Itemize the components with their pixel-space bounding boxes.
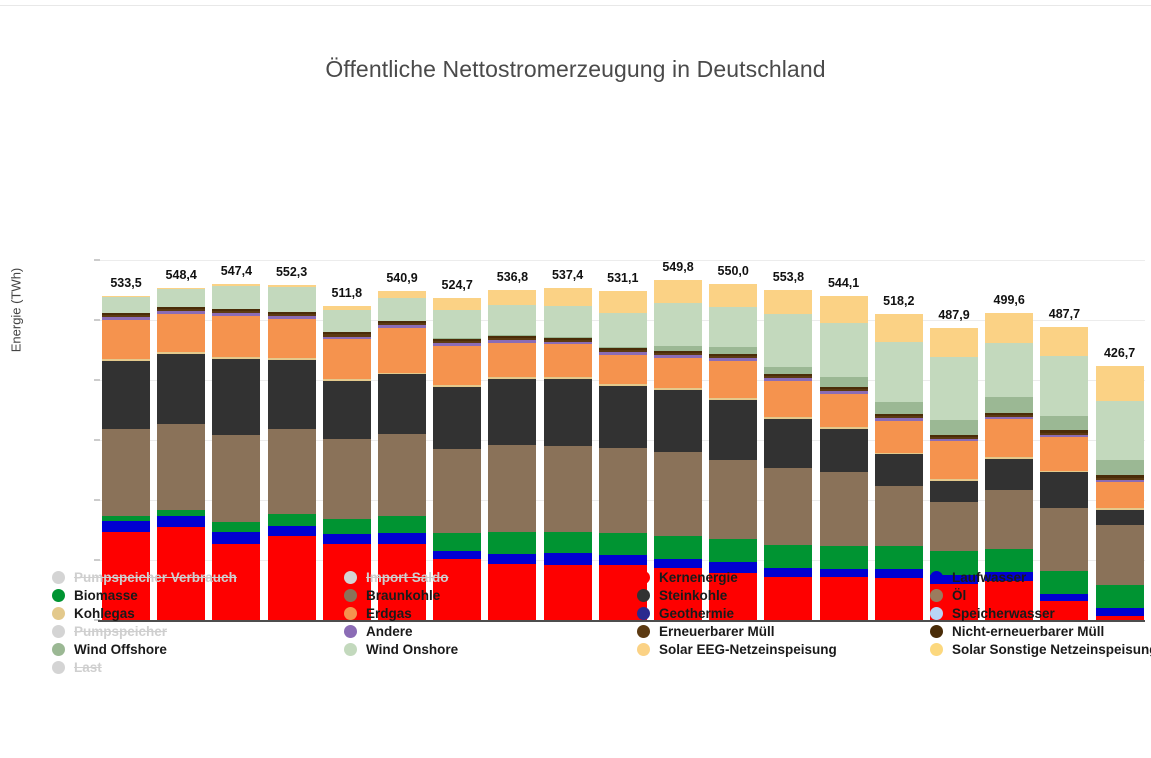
bar-segment[interactable] <box>268 314 316 316</box>
bar-segment[interactable] <box>544 337 592 339</box>
legend-color-swatch-icon <box>344 643 357 656</box>
bar-segment[interactable] <box>433 385 481 387</box>
bar-segment[interactable] <box>654 559 702 568</box>
bar-segment[interactable] <box>488 377 536 379</box>
bar-total-label: 487,9 <box>938 308 969 322</box>
stacked-bar[interactable] <box>875 260 923 620</box>
bar-segment[interactable] <box>212 311 260 313</box>
bar-segment[interactable] <box>709 356 757 358</box>
legend-item[interactable]: Braunkohle <box>344 586 458 604</box>
bar-segment[interactable] <box>544 532 592 554</box>
bar-segment[interactable] <box>378 298 426 321</box>
bar-segment[interactable] <box>157 354 205 425</box>
bar-segment[interactable] <box>488 532 536 554</box>
bar-segment[interactable] <box>764 290 812 314</box>
bar-segment[interactable] <box>212 522 260 533</box>
y-axis-tick-mark <box>94 500 100 501</box>
bar-segment[interactable] <box>709 358 757 361</box>
bar-segment[interactable] <box>764 367 812 374</box>
bar-segment[interactable] <box>268 360 316 428</box>
bar-group[interactable]: 487,9 <box>930 260 978 620</box>
bar-total-label: 536,8 <box>497 270 528 284</box>
legend-item[interactable]: Wind Offshore <box>52 640 237 658</box>
legend-item-label: Pumpspeicher <box>74 624 167 639</box>
legend-color-swatch-icon <box>344 589 357 602</box>
bar-segment[interactable] <box>709 354 757 356</box>
stacked-bar[interactable] <box>820 260 868 620</box>
bar-segment[interactable] <box>875 546 923 570</box>
bar-total-label: 537,4 <box>552 268 583 282</box>
bar-segment[interactable] <box>323 332 371 334</box>
bar-group[interactable]: 549,8 <box>654 260 702 620</box>
y-axis-tick-mark <box>94 320 100 321</box>
bar-segment[interactable] <box>268 287 316 311</box>
legend-color-swatch-icon <box>52 643 65 656</box>
bar-segment[interactable] <box>212 435 260 522</box>
bar-group[interactable]: 552,3 <box>268 260 316 620</box>
bar-segment[interactable] <box>985 490 1033 549</box>
bar-segment[interactable] <box>102 516 150 521</box>
bar-segment[interactable] <box>102 297 150 313</box>
bar-segment[interactable] <box>709 284 757 307</box>
bar-segment[interactable] <box>820 427 868 429</box>
bar-total-label: 548,4 <box>166 268 197 282</box>
bar-segment[interactable] <box>930 420 978 435</box>
bar-segment[interactable] <box>654 351 702 353</box>
legend-item-label: Last <box>74 660 102 675</box>
bar-segment[interactable] <box>654 303 702 346</box>
bar-segment[interactable] <box>599 533 647 556</box>
bar-segment[interactable] <box>488 554 536 564</box>
bar-segment[interactable] <box>157 307 205 309</box>
bar-segment[interactable] <box>654 280 702 303</box>
bar-segment[interactable] <box>820 296 868 323</box>
bar-segment[interactable] <box>544 553 592 564</box>
bar-segment[interactable] <box>764 314 812 367</box>
bar-segment[interactable] <box>102 521 150 532</box>
bar-segment[interactable] <box>212 316 260 357</box>
stacked-bar[interactable] <box>212 260 260 620</box>
bar-segment[interactable] <box>268 514 316 526</box>
bar-segment[interactable] <box>433 343 481 346</box>
bar-group[interactable]: 537,4 <box>544 260 592 620</box>
bar-segment[interactable] <box>875 416 923 418</box>
bar-segment[interactable] <box>102 317 150 320</box>
bar-segment[interactable] <box>102 315 150 317</box>
bar-segment[interactable] <box>599 555 647 565</box>
bar-group[interactable]: 550,0 <box>709 260 757 620</box>
bar-total-label: 550,0 <box>718 264 749 278</box>
bar-segment[interactable] <box>488 445 536 532</box>
stacked-bar[interactable] <box>599 260 647 620</box>
legend-color-swatch-icon <box>637 571 650 584</box>
bar-segment[interactable] <box>544 446 592 532</box>
bar-segment[interactable] <box>764 419 812 468</box>
bar-segment[interactable] <box>323 334 371 336</box>
bar-segment[interactable] <box>654 355 702 358</box>
bar-segment[interactable] <box>930 328 978 357</box>
bar-segment[interactable] <box>875 453 923 455</box>
bar-segment[interactable] <box>323 379 371 381</box>
bar-segment[interactable] <box>1096 401 1144 460</box>
bar-segment[interactable] <box>378 323 426 325</box>
bar-segment[interactable] <box>599 386 647 448</box>
bar-segment[interactable] <box>1096 475 1144 477</box>
bar-segment[interactable] <box>544 340 592 342</box>
bar-segment[interactable] <box>378 373 426 375</box>
bar-segment[interactable] <box>212 309 260 311</box>
bar-segment[interactable] <box>599 347 647 348</box>
legend-item[interactable]: Speicherwasser <box>930 604 1151 622</box>
bar-segment[interactable] <box>268 312 316 314</box>
bar-segment[interactable] <box>102 359 150 361</box>
legend-item-label: Geothermie <box>659 606 734 621</box>
bar-segment[interactable] <box>764 376 812 378</box>
bar-segment[interactable] <box>323 439 371 518</box>
bar-segment[interactable] <box>378 533 426 544</box>
bar-segment[interactable] <box>323 534 371 544</box>
bar-segment[interactable] <box>544 342 592 345</box>
stacked-bar[interactable] <box>764 260 812 620</box>
bar-segment[interactable] <box>157 309 205 311</box>
bar-segment[interactable] <box>433 533 481 551</box>
bar-segment[interactable] <box>1096 366 1144 401</box>
legend-item[interactable]: Pumpspeicher <box>52 622 237 640</box>
bar-segment[interactable] <box>433 449 481 532</box>
bar-segment[interactable] <box>378 516 426 533</box>
bar-segment[interactable] <box>157 289 205 307</box>
bar-segment[interactable] <box>764 381 812 417</box>
bar-segment[interactable] <box>709 539 757 562</box>
bar-segment[interactable] <box>820 394 868 427</box>
bar-segment[interactable] <box>212 359 260 435</box>
bar-segment[interactable] <box>488 379 536 445</box>
legend-item[interactable]: Erneuerbarer Müll <box>637 622 837 640</box>
bar-segment[interactable] <box>599 291 647 313</box>
bar-segment[interactable] <box>102 320 150 359</box>
bar-segment[interactable] <box>157 516 205 527</box>
bar-segment[interactable] <box>985 343 1033 397</box>
bar-segment[interactable] <box>930 481 978 502</box>
bar-segment[interactable] <box>985 397 1033 413</box>
bar-segment[interactable] <box>378 434 426 516</box>
bar-segment[interactable] <box>709 361 757 398</box>
bar-segment[interactable] <box>157 314 205 352</box>
legend-item[interactable]: Solar EEG-Netzeinspeisung <box>637 640 837 658</box>
bar-segment[interactable] <box>488 336 536 338</box>
bar-segment[interactable] <box>875 486 923 546</box>
bar-segment[interactable] <box>323 337 371 340</box>
bar-segment[interactable] <box>875 414 923 416</box>
bar-segment[interactable] <box>102 296 150 297</box>
legend-item-label: Andere <box>366 624 413 639</box>
legend-item[interactable]: Last <box>52 658 237 676</box>
bar-total-label: 487,7 <box>1049 307 1080 321</box>
stacked-bar[interactable] <box>433 260 481 620</box>
bar-segment[interactable] <box>157 288 205 290</box>
legend-item-label: Wind Onshore <box>366 642 458 657</box>
legend-item[interactable]: Biomasse <box>52 586 237 604</box>
legend-item[interactable]: Andere <box>344 622 458 640</box>
bar-segment[interactable] <box>599 384 647 386</box>
bar-segment[interactable] <box>985 419 1033 457</box>
bar-segment[interactable] <box>1040 437 1088 471</box>
page-title: Öffentliche Nettostromerzeugung in Deuts… <box>0 56 1151 83</box>
bar-segment[interactable] <box>323 339 371 379</box>
bar-segment[interactable] <box>1040 430 1088 432</box>
legend-item[interactable]: Kohlegas <box>52 604 237 622</box>
legend-item[interactable]: Kernenergie <box>637 568 837 586</box>
legend-item-label: Biomasse <box>74 588 138 603</box>
bar-segment[interactable] <box>875 314 923 342</box>
bar-segment[interactable] <box>599 350 647 352</box>
bar-segment[interactable] <box>930 479 978 481</box>
legend-item[interactable]: Nicht-erneuerbarer Müll <box>930 622 1151 640</box>
bar-segment[interactable] <box>1096 480 1144 482</box>
bar-segment[interactable] <box>157 424 205 510</box>
stacked-bar[interactable] <box>709 260 757 620</box>
bar-segment[interactable] <box>820 391 868 394</box>
stacked-bar[interactable] <box>323 260 371 620</box>
bar-segment[interactable] <box>1040 435 1088 437</box>
bar-segment[interactable] <box>875 454 923 485</box>
legend-column: LaufwasserÖlSpeicherwasserNicht-erneuerb… <box>930 568 1151 658</box>
stacked-bar[interactable] <box>268 260 316 620</box>
bar-segment[interactable] <box>820 429 868 472</box>
bar-segment[interactable] <box>709 398 757 400</box>
bar-segment[interactable] <box>930 435 978 437</box>
bar-segment[interactable] <box>488 305 536 335</box>
bar-segment[interactable] <box>1040 472 1088 507</box>
bar-segment[interactable] <box>378 374 426 434</box>
bar-segment[interactable] <box>820 387 868 389</box>
bar-segment[interactable] <box>1040 356 1088 416</box>
bar-segment[interactable] <box>102 361 150 429</box>
bar-segment[interactable] <box>764 417 812 419</box>
bar-segment[interactable] <box>764 374 812 376</box>
bar-segment[interactable] <box>709 460 757 539</box>
stacked-bar[interactable] <box>654 260 702 620</box>
bar-segment[interactable] <box>102 313 150 315</box>
bar-segment[interactable] <box>268 285 316 288</box>
stacked-bar[interactable] <box>985 260 1033 620</box>
bar-segment[interactable] <box>709 400 757 460</box>
stacked-bar[interactable] <box>544 260 592 620</box>
bar-segment[interactable] <box>433 341 481 343</box>
bar-segment[interactable] <box>488 290 536 306</box>
bar-segment[interactable] <box>268 526 316 536</box>
bar-segment[interactable] <box>930 437 978 439</box>
legend-item-label: Solar EEG-Netzeinspeisung <box>659 642 837 657</box>
bar-segment[interactable] <box>820 546 868 569</box>
bar-segment[interactable] <box>268 429 316 515</box>
bar-group[interactable]: 544,1 <box>820 260 868 620</box>
legend-item-label: Kohlegas <box>74 606 135 621</box>
bar-segment[interactable] <box>820 472 868 546</box>
bar-segment[interactable] <box>488 338 536 340</box>
stacked-bar[interactable] <box>102 260 150 620</box>
bar-segment[interactable] <box>544 288 592 307</box>
bar-segment[interactable] <box>985 457 1033 459</box>
bar-segment[interactable] <box>102 429 150 517</box>
legend-color-swatch-icon <box>930 607 943 620</box>
bar-segment[interactable] <box>599 352 647 355</box>
bar-group[interactable]: 548,4 <box>157 260 205 620</box>
legend-column: Pumpspeicher VerbrauchBiomasseKohlegasPu… <box>52 568 237 676</box>
bar-segment[interactable] <box>433 339 481 341</box>
bar-group[interactable]: 531,1 <box>599 260 647 620</box>
bar-segment[interactable] <box>378 325 426 328</box>
bar-segment[interactable] <box>378 328 426 372</box>
legend-item-label: Wind Offshore <box>74 642 167 657</box>
bar-segment[interactable] <box>764 468 812 545</box>
bar-segment[interactable] <box>544 306 592 337</box>
bar-segment[interactable] <box>654 536 702 558</box>
bar-group[interactable]: 553,8 <box>764 260 812 620</box>
bar-group[interactable]: 533,5 <box>102 260 150 620</box>
bar-segment[interactable] <box>323 519 371 534</box>
legend-item-label: Speicherwasser <box>952 606 1055 621</box>
bar-segment[interactable] <box>433 310 481 339</box>
bar-segment[interactable] <box>212 532 260 543</box>
bar-segment[interactable] <box>875 342 923 403</box>
bar-group[interactable]: 499,6 <box>985 260 1033 620</box>
legend-item[interactable]: Pumpspeicher Verbrauch <box>52 568 237 586</box>
bar-segment[interactable] <box>268 358 316 360</box>
legend-item[interactable]: Laufwasser <box>930 568 1151 586</box>
legend-color-swatch-icon <box>52 571 65 584</box>
bar-segment[interactable] <box>212 284 260 286</box>
legend-item[interactable]: Öl <box>930 586 1151 604</box>
bar-group[interactable]: 426,7 <box>1096 260 1144 620</box>
bar-segment[interactable] <box>268 319 316 359</box>
bar-segment[interactable] <box>433 551 481 559</box>
bar-segment[interactable] <box>764 545 812 568</box>
bar-segment[interactable] <box>599 448 647 533</box>
bar-segment[interactable] <box>1040 433 1088 435</box>
bar-group[interactable]: 524,7 <box>433 260 481 620</box>
legend-item[interactable]: Wind Onshore <box>344 640 458 658</box>
bar-segment[interactable] <box>544 379 592 446</box>
bar-segment[interactable] <box>930 502 978 551</box>
bar-segment[interactable] <box>157 352 205 354</box>
bar-total-label: 518,2 <box>883 294 914 308</box>
bar-group[interactable]: 487,7 <box>1040 260 1088 620</box>
legend-color-swatch-icon <box>344 625 357 638</box>
bar-segment[interactable] <box>875 418 923 421</box>
bar-segment[interactable] <box>323 306 371 310</box>
bar-segment[interactable] <box>820 323 868 377</box>
bar-segment[interactable] <box>1040 327 1088 356</box>
bar-segment[interactable] <box>544 377 592 379</box>
bar-segment[interactable] <box>323 381 371 440</box>
bar-segment[interactable] <box>709 347 757 355</box>
bar-segment[interactable] <box>544 344 592 376</box>
legend-item-label: Öl <box>952 588 966 603</box>
bar-segment[interactable] <box>323 310 371 333</box>
bar-segment[interactable] <box>268 316 316 319</box>
bar-group[interactable]: 547,4 <box>212 260 260 620</box>
legend-color-swatch-icon <box>930 589 943 602</box>
bar-segment[interactable] <box>820 377 868 388</box>
bar-segment[interactable] <box>985 413 1033 415</box>
legend-color-swatch-icon <box>637 589 650 602</box>
legend-item-label: Kernenergie <box>659 570 738 585</box>
legend-item[interactable]: Steinkohle <box>637 586 837 604</box>
bar-segment[interactable] <box>654 353 702 355</box>
bar-segment[interactable] <box>654 346 702 351</box>
legend-item[interactable]: Erdgas <box>344 604 458 622</box>
bar-segment[interactable] <box>157 510 205 516</box>
bar-segment[interactable] <box>985 459 1033 490</box>
bar-segment[interactable] <box>820 389 868 391</box>
bar-segment[interactable] <box>985 313 1033 343</box>
bar-segment[interactable] <box>212 286 260 309</box>
stacked-bar[interactable] <box>1096 260 1144 620</box>
stacked-bar[interactable] <box>378 260 426 620</box>
bar-segment[interactable] <box>1040 508 1088 571</box>
bar-segment[interactable] <box>433 387 481 449</box>
bar-segment[interactable] <box>488 340 536 343</box>
bar-group[interactable]: 536,8 <box>488 260 536 620</box>
window-top-bar <box>0 0 1151 6</box>
bar-segment[interactable] <box>930 439 978 441</box>
bar-segment[interactable] <box>433 346 481 386</box>
bar-segment[interactable] <box>764 378 812 381</box>
legend-item[interactable]: Import Saldo <box>344 568 458 586</box>
bar-segment[interactable] <box>985 417 1033 419</box>
bar-segment[interactable] <box>1096 460 1144 475</box>
bar-segment[interactable] <box>599 355 647 384</box>
bar-segment[interactable] <box>1040 471 1088 473</box>
bar-segment[interactable] <box>654 390 702 452</box>
bar-segment[interactable] <box>1096 478 1144 480</box>
bar-segment[interactable] <box>930 441 978 479</box>
bar-segment[interactable] <box>1096 508 1144 510</box>
bar-segment[interactable] <box>212 357 260 359</box>
bar-segment[interactable] <box>1096 482 1144 508</box>
bar-group[interactable]: 518,2 <box>875 260 923 620</box>
bar-segment[interactable] <box>875 421 923 453</box>
bar-segment[interactable] <box>378 291 426 298</box>
bar-segment[interactable] <box>1040 416 1088 431</box>
bar-segment[interactable] <box>709 307 757 347</box>
bar-segment[interactable] <box>599 313 647 347</box>
bar-segment[interactable] <box>212 313 260 316</box>
legend-item[interactable]: Geothermie <box>637 604 837 622</box>
bar-segment[interactable] <box>488 343 536 378</box>
bar-segment[interactable] <box>654 452 702 536</box>
bar-group[interactable]: 511,8 <box>323 260 371 620</box>
bar-group[interactable]: 540,9 <box>378 260 426 620</box>
bar-total-label: 426,7 <box>1104 346 1135 360</box>
bar-segment[interactable] <box>985 415 1033 417</box>
bar-segment[interactable] <box>599 348 647 350</box>
bar-total-label: 547,4 <box>221 264 252 278</box>
legend-item-label: Braunkohle <box>366 588 440 603</box>
bar-segment[interactable] <box>930 357 978 420</box>
bar-segment[interactable] <box>433 298 481 309</box>
stacked-bar[interactable] <box>157 260 205 620</box>
bar-segment[interactable] <box>378 321 426 323</box>
bar-segment[interactable] <box>654 358 702 389</box>
bar-segment[interactable] <box>1096 510 1144 524</box>
bar-segment[interactable] <box>875 402 923 414</box>
bar-segment[interactable] <box>157 311 205 314</box>
legend-item[interactable]: Solar Sonstige Netzeinspeisung <box>930 640 1151 658</box>
bar-segment[interactable] <box>654 388 702 390</box>
stacked-bar[interactable] <box>488 260 536 620</box>
